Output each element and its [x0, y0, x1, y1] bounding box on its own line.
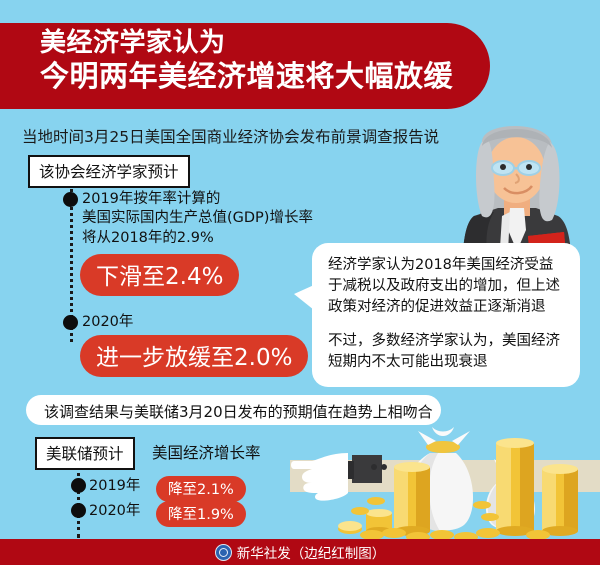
economists-speech-bubble: 经济学家认为2018年美国经济受益于减税以及政府支出的增加，但上述政策对经济的促…	[312, 243, 580, 387]
nabe-2019-line-2: 美国实际国内生产总值(GDP)增长率	[82, 209, 313, 228]
xinhua-logo-icon	[215, 544, 232, 561]
bullet-dot-2020	[63, 315, 78, 330]
title-line-1: 美经济学家认为	[40, 28, 500, 59]
nabe-forecast-label: 该协会经济学家预计	[28, 155, 190, 188]
fed-row-2019-value-pill: 降至2.1%	[156, 476, 246, 502]
fed-forecast-label: 美联储预计	[35, 437, 135, 470]
nabe-2019-value-pill: 下滑至2.4%	[80, 254, 239, 296]
fed-connector-line	[77, 466, 80, 538]
footer-content: 新华社发（边纪红制图）	[0, 539, 600, 565]
page-title: 美经济学家认为 今明两年美经济增速将大幅放缓	[40, 28, 500, 93]
fed-bullet-dot-2019	[71, 478, 86, 493]
title-line-2: 今明两年美经济增速将大幅放缓	[40, 59, 500, 93]
speech-bubble-tail	[294, 285, 314, 310]
survey-result-text: 该调查结果与美联储3月20日发布的预期值在趋势上相吻合	[44, 401, 433, 422]
fed-row-2020-value-pill: 降至1.9%	[156, 501, 246, 527]
nabe-2020-value-pill: 进一步放缓至2.0%	[80, 335, 308, 377]
infographic-root: 美经济学家认为 今明两年美经济增速将大幅放缓 当地时间3月25日美国全国商业经济…	[0, 0, 600, 565]
fed-metric-label: 美国经济增长率	[152, 441, 261, 463]
nabe-bullet-2019-text: 2019年按年率计算的 美国实际国内生产总值(GDP)增长率 将从2018年的2…	[82, 190, 313, 248]
bullet-dot-2019	[63, 192, 78, 207]
money-bags-coins-icon	[290, 425, 600, 540]
fed-row-2020-year: 2020年	[89, 502, 140, 521]
footer-credit-text: 新华社发（边纪红制图）	[237, 542, 386, 562]
subtitle-text: 当地时间3月25日美国全国商业经济协会发布前景调查报告说	[22, 125, 439, 147]
bubble-paragraph-2: 不过，多数经济学家认为，美国经济短期内不太可能出现衰退	[328, 331, 566, 373]
fed-row-2019-year: 2019年	[89, 477, 140, 496]
pointing-hand-icon	[291, 453, 387, 501]
fed-bullet-dot-2020	[71, 503, 86, 518]
nabe-bullet-2020-text: 2020年	[82, 313, 133, 332]
nabe-2019-line-3: 将从2018年的2.9%	[82, 229, 313, 248]
bubble-paragraph-1: 经济学家认为2018年美国经济受益于减税以及政府支出的增加，但上述政策对经济的促…	[328, 255, 566, 318]
nabe-2019-line-1: 2019年按年率计算的	[82, 190, 313, 209]
